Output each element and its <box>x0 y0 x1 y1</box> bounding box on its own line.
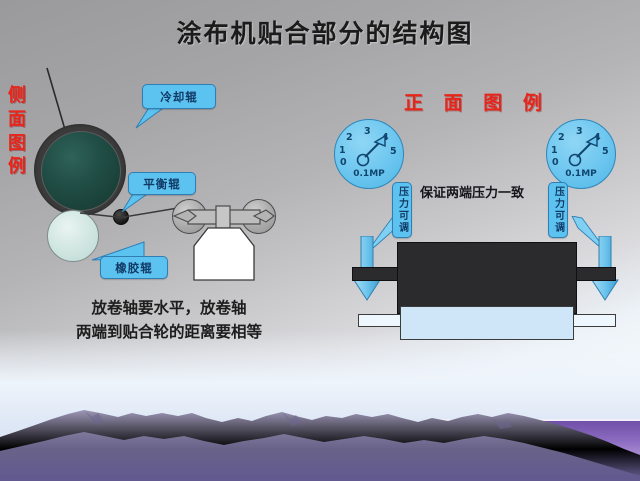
side-legend-char-1: 侧 <box>4 84 30 108</box>
gauge-left-unit: 0.1MP <box>335 169 403 179</box>
side-legend-char-4: 例 <box>4 155 30 179</box>
note-line-1: 放卷轴要水平，放卷轴 <box>34 296 304 320</box>
side-view-note: 放卷轴要水平，放卷轴 两端到贴合轮的距离要相等 <box>34 296 304 344</box>
front-light-roller <box>400 306 574 340</box>
front-dark-roller <box>397 242 577 314</box>
center-note: 保证两端压力一致 <box>420 182 524 201</box>
mountain-silhouette <box>0 391 640 481</box>
callout-cooling-roller-label: 冷却辊 <box>160 89 198 105</box>
side-legend-text: 侧面图例 <box>4 84 30 179</box>
callout-cooling-roller[interactable]: 冷却辊 <box>142 84 216 109</box>
slide-canvas: 涂布机贴合部分的结构图 侧面图例 正 面 图 例 冷却辊 平衡辊 <box>0 0 640 481</box>
callout-pressure-left-label: 压力可调 <box>397 186 408 234</box>
callout-rubber-roller[interactable]: 橡胶辊 <box>100 256 168 279</box>
cooling-roller-surface <box>41 131 121 211</box>
mechanism-frame <box>168 192 284 300</box>
side-legend-char-2: 面 <box>4 108 30 132</box>
callout-rubber-roller-label: 橡胶辊 <box>115 260 153 276</box>
callout-balance-roller[interactable]: 平衡辊 <box>128 172 196 195</box>
callout-balance-roller-label: 平衡辊 <box>143 176 181 192</box>
side-legend-char-3: 图 <box>4 132 30 156</box>
callout-pressure-right-label: 压力可调 <box>553 186 564 234</box>
front-view-legend-label: 正 面 图 例 <box>404 88 549 115</box>
balance-roller-callout-tail <box>122 192 156 216</box>
note-line-2: 两端到贴合轮的距离要相等 <box>34 320 304 344</box>
page-title: 涂布机贴合部分的结构图 <box>125 14 525 50</box>
side-view-legend-label: 侧面图例 <box>4 84 30 179</box>
callout-pressure-right[interactable]: 压力可调 <box>548 182 568 238</box>
pressure-gauge-left[interactable]: 0 1 2 3 4 5 0.1MP <box>334 119 404 189</box>
pressure-gauge-right[interactable]: 0 1 2 3 4 5 0.1MP <box>546 119 616 189</box>
callout-pressure-left[interactable]: 压力可调 <box>392 182 412 238</box>
gauge-right-unit: 0.1MP <box>547 169 615 179</box>
cooling-roller-callout-tail <box>132 106 172 132</box>
